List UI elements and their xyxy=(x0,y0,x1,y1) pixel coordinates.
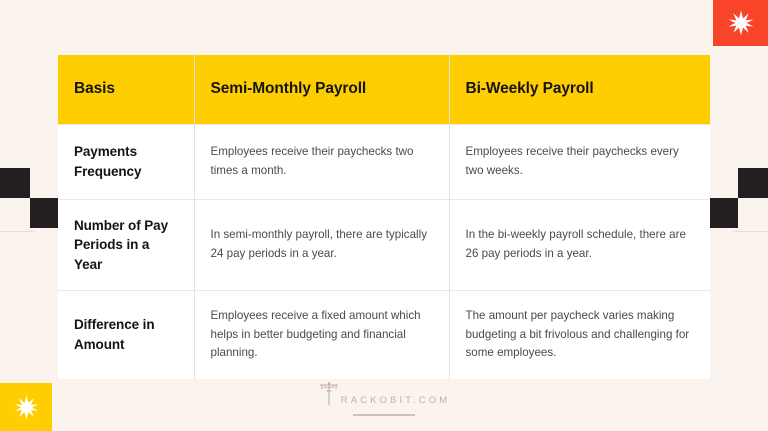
table-row: Difference in Amount Employees receive a… xyxy=(58,291,710,380)
divider-line-right xyxy=(734,231,768,232)
checker-cell xyxy=(30,198,60,228)
row-label-difference-in-amount: Difference in Amount xyxy=(58,291,194,380)
checker-cell xyxy=(738,168,768,198)
column-header-basis: Basis xyxy=(58,55,194,125)
row-label-pay-periods: Number of Pay Periods in a Year xyxy=(58,200,194,291)
divider-line-left xyxy=(0,231,34,232)
cell-bi-weekly-amount: The amount per paycheck varies making bu… xyxy=(449,291,710,380)
checker-cell xyxy=(708,168,738,198)
checker-cell xyxy=(708,198,738,228)
comparison-table-container: Basis Semi-Monthly Payroll Bi-Weekly Pay… xyxy=(58,55,710,379)
sparkle-star-icon xyxy=(728,10,754,36)
column-header-bi-weekly: Bi-Weekly Payroll xyxy=(449,55,710,125)
table-row: Number of Pay Periods in a Year In semi-… xyxy=(58,200,710,291)
cell-semi-monthly-frequency: Employees receive their paychecks two ti… xyxy=(194,125,449,200)
checker-cell xyxy=(30,168,60,198)
cell-semi-monthly-pay-periods: In semi-monthly payroll, there are typic… xyxy=(194,200,449,291)
trackobit-t-logo-icon xyxy=(318,381,340,407)
payroll-comparison-table: Basis Semi-Monthly Payroll Bi-Weekly Pay… xyxy=(58,55,710,379)
table-row: Payments Frequency Employees receive the… xyxy=(58,125,710,200)
table-header-row: Basis Semi-Monthly Payroll Bi-Weekly Pay… xyxy=(58,55,710,125)
cell-bi-weekly-frequency: Employees receive their paychecks every … xyxy=(449,125,710,200)
brand-lockup: RACKOBIT.COM xyxy=(318,381,451,407)
footer-watermark: RACKOBIT.COM xyxy=(0,381,768,416)
brand-underline xyxy=(353,414,415,416)
cell-bi-weekly-pay-periods: In the bi-weekly payroll schedule, there… xyxy=(449,200,710,291)
row-label-payments-frequency: Payments Frequency xyxy=(58,125,194,200)
cell-semi-monthly-amount: Employees receive a fixed amount which h… xyxy=(194,291,449,380)
brand-name-text: RACKOBIT.COM xyxy=(341,396,451,408)
checker-cell xyxy=(0,168,30,198)
checker-cell xyxy=(0,198,30,228)
top-right-badge xyxy=(713,0,768,46)
poster-canvas: Basis Semi-Monthly Payroll Bi-Weekly Pay… xyxy=(0,0,768,431)
checker-cell xyxy=(738,198,768,228)
column-header-semi-monthly: Semi-Monthly Payroll xyxy=(194,55,449,125)
